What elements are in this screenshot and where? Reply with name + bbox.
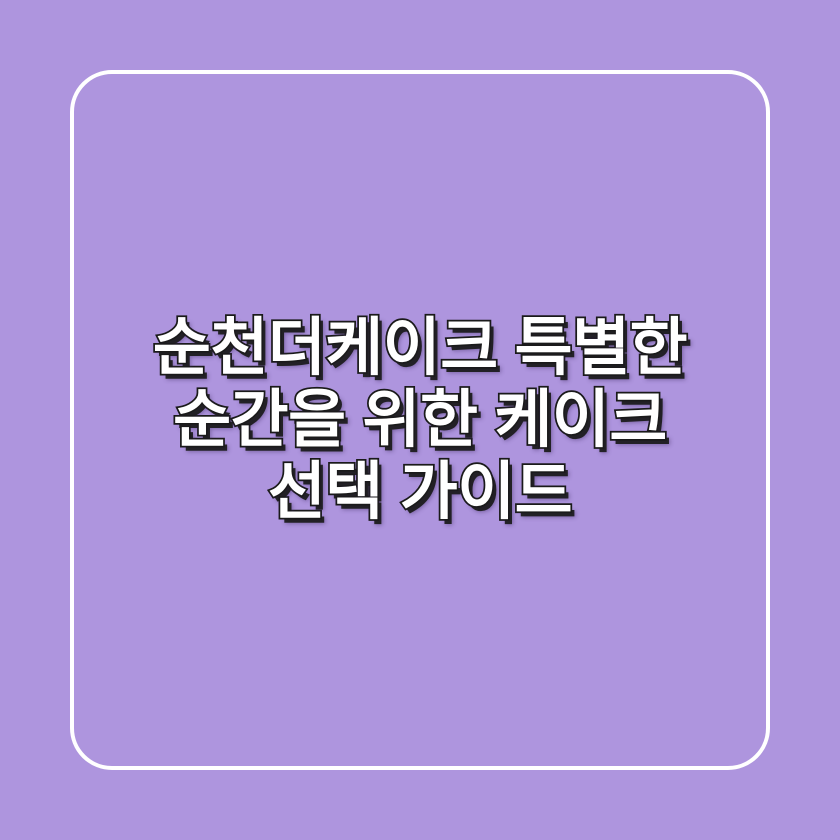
headline-block: 순천더케이크 특별한 순간을 위한 케이크 선택 가이드 [0,0,840,840]
headline-line-3: 선택 가이드 [90,456,750,528]
headline-line-1: 순천더케이크 특별한 [90,312,750,384]
headline-line-2: 순간을 위한 케이크 [90,384,750,456]
thumbnail-canvas: 순천더케이크 특별한 순간을 위한 케이크 선택 가이드 [0,0,840,840]
